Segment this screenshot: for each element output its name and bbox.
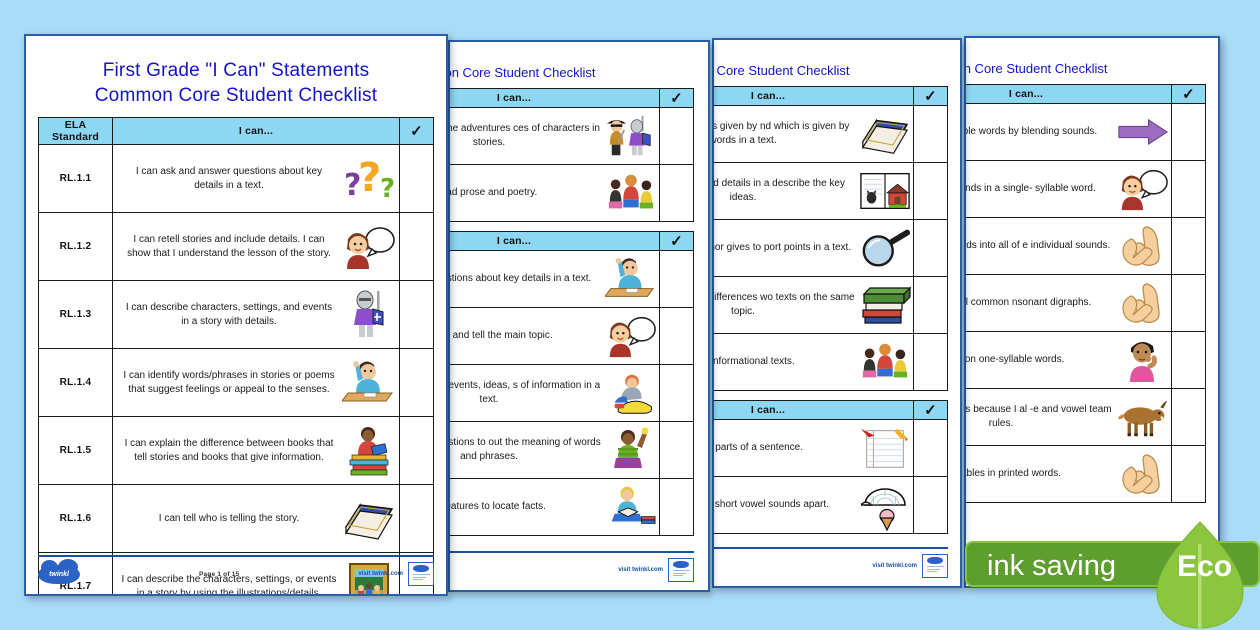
- statement-text: n similarities and differences wo texts …: [712, 291, 855, 319]
- statement-text: xt features to locate facts.: [448, 500, 601, 514]
- table-row: e single-syllable words by blending soun…: [964, 104, 1206, 161]
- screenshot-stage: First Grade "I Can" Statements Common Co…: [0, 0, 1260, 630]
- statement-text: e and contrast the adventures ces of cha…: [448, 122, 601, 150]
- table-header-row: I can...✓: [448, 89, 694, 108]
- statement-text: I can identify words/phrases in stories …: [117, 369, 337, 397]
- cell-checkbox[interactable]: [400, 145, 434, 213]
- cell-checkbox[interactable]: [914, 220, 948, 277]
- table-row: n text and tell the main topic.: [448, 308, 694, 365]
- table-row: ear and spell common nsonant digraphs.: [964, 275, 1206, 332]
- svg-text:?: ?: [380, 174, 395, 203]
- blue-book-icon: [341, 492, 397, 546]
- page-footer: Page 2 of 15 visit twinkl.com: [448, 551, 694, 582]
- cell-i-can-statement: I can identify words/phrases in stories …: [113, 349, 400, 417]
- statement-text: ear and spell common nsonant digraphs.: [964, 296, 1113, 310]
- pirate-and-knight-icon: [605, 113, 657, 159]
- cell-checkbox[interactable]: [1172, 218, 1206, 275]
- stack-of-books-icon: [859, 282, 911, 328]
- cell-checkbox[interactable]: [914, 420, 948, 477]
- cell-checkbox[interactable]: [914, 277, 948, 334]
- twinkl-badge-icon: [668, 558, 694, 582]
- table-header-row: I can...✓: [964, 85, 1206, 104]
- column-header-i-can: I can...: [448, 232, 660, 251]
- table-row: the long and short vowel sounds apart.: [712, 477, 948, 534]
- eco-label: ink saving: [987, 552, 1116, 581]
- column-header-i-can: I can...: [712, 87, 914, 106]
- blue-book-icon: [859, 111, 911, 157]
- page-title-line-2: Common Core Student Checklist: [38, 83, 434, 108]
- cell-i-can-statement: I can describe characters, settings, and…: [113, 281, 400, 349]
- twinkl-badge-icon: [408, 562, 434, 586]
- page-title: ts Common Core Student Checklist: [712, 50, 948, 86]
- table-header-row: I can...✓: [448, 232, 694, 251]
- table-row: ead prose and poetry.: [448, 165, 694, 222]
- table-row: ce all the sounds in a single- syllable …: [964, 161, 1206, 218]
- table-row: ong vowel sounds because I al -e and vow…: [964, 389, 1206, 446]
- statement-text: ead prose and poetry.: [448, 186, 601, 200]
- cell-checkbox[interactable]: [660, 108, 694, 165]
- table-row: and answer questions to out the meaning …: [448, 422, 694, 479]
- checklist-table: I can...✓ize the parts of a sentence. th…: [712, 400, 948, 534]
- ink-saving-eco-badge: ink saving Eco: [965, 533, 1260, 593]
- child-speech-bubble-icon: [605, 313, 657, 359]
- twinkl-logo-text: twinkl: [49, 571, 69, 578]
- statement-text: e illustrations and details in a describ…: [712, 177, 855, 205]
- cell-i-can-statement: d answer questions about key details in …: [448, 251, 660, 308]
- cell-checkbox[interactable]: [400, 485, 434, 553]
- lined-paper-pencil-icon: [859, 425, 911, 471]
- statement-text: I can ask and answer questions about key…: [117, 165, 337, 193]
- page-title: First Grade "I Can" Statements Common Co…: [38, 46, 434, 117]
- worksheet-page-4[interactable]: ts Common Core Student Checklist I can..…: [964, 36, 1220, 588]
- checklist-table: I can...✓d answer questions about key de…: [448, 231, 694, 536]
- table-header-row: I can...✓: [712, 87, 948, 106]
- cell-i-can-statement: t syllables in printed words.: [964, 446, 1172, 503]
- footer-website-link[interactable]: visit twinkl.com: [872, 563, 917, 569]
- page-title-line-1: First Grade "I Can" Statements: [103, 60, 370, 81]
- statement-text: ngle-syllable words into all of e indivi…: [964, 239, 1113, 253]
- cell-i-can-statement: ead informational texts.: [712, 334, 914, 391]
- statement-text: ead informational texts.: [712, 355, 855, 369]
- table-row: ngle-syllable words into all of e indivi…: [964, 218, 1206, 275]
- twinkl-badge-icon: [922, 554, 948, 578]
- column-header-i-can: I can...: [113, 118, 400, 145]
- cell-checkbox[interactable]: [914, 477, 948, 534]
- boy-reading-icon: [605, 484, 657, 530]
- cell-checkbox[interactable]: [1172, 446, 1206, 503]
- table-row: RL.1.5I can explain the difference betwe…: [39, 417, 434, 485]
- cell-i-can-statement: e illustrations and details in a describ…: [712, 163, 914, 220]
- children-reading-group-icon: [859, 339, 911, 385]
- statement-text: I can explain the difference between boo…: [117, 437, 337, 465]
- statement-text: I can tell who is telling the story.: [117, 512, 337, 526]
- clapping-hands-icon: [1117, 451, 1169, 497]
- magnifying-glass-icon: [859, 225, 911, 271]
- eco-word: Eco: [1177, 552, 1232, 582]
- cell-i-can-statement: I can tell who is telling the story.: [113, 485, 400, 553]
- cell-i-can-statement: ize the parts of a sentence.: [712, 420, 914, 477]
- cell-standard: RL.1.6: [39, 485, 113, 553]
- cell-checkbox[interactable]: [400, 213, 434, 281]
- goat-icon: [1117, 394, 1169, 440]
- cell-i-can-statement: ce all the sounds in a single- syllable …: [964, 161, 1172, 218]
- table-row: e and contrast the adventures ces of cha…: [448, 108, 694, 165]
- table-row: n similarities and differences wo texts …: [712, 277, 948, 334]
- table-row: RL.1.3I can describe characters, setting…: [39, 281, 434, 349]
- cell-checkbox[interactable]: [1172, 275, 1206, 332]
- checklist-table: ELA Standard I can... ✓ RL.1.1I can ask …: [38, 117, 434, 596]
- table-row: xt features to locate facts.: [448, 479, 694, 536]
- worksheet-page-3[interactable]: ts Common Core Student Checklist I can..…: [712, 38, 962, 588]
- page-footer: twinkl Page 1 of 15 visit twinkl.com: [38, 555, 434, 586]
- clapping-hands-icon: [1117, 280, 1169, 326]
- child-on-books-icon: [341, 424, 397, 478]
- cell-checkbox[interactable]: [400, 417, 434, 485]
- worksheet-page-2[interactable]: ts Common Core Student Checklist I can..…: [448, 40, 710, 592]
- cell-i-can-statement: ong vowel sounds because I al -e and vow…: [964, 389, 1172, 446]
- table-row: ead informational texts.: [712, 334, 948, 391]
- table-row: d answer questions about key details in …: [448, 251, 694, 308]
- cell-i-can-statement: I can explain the difference between boo…: [113, 417, 400, 485]
- cell-checkbox[interactable]: [400, 281, 434, 349]
- child-writing-desk-icon: [341, 356, 397, 410]
- cell-i-can-statement: n text and tell the main topic.: [448, 308, 660, 365]
- column-header-i-can: I can...: [964, 85, 1172, 104]
- cell-checkbox[interactable]: [1172, 104, 1206, 161]
- purple-arrow-icon: [1117, 109, 1169, 155]
- child-speech-bubble-icon: [1117, 166, 1169, 212]
- column-header-standard: ELA Standard: [39, 118, 113, 145]
- column-header-check: ✓: [914, 401, 948, 420]
- column-header-check: ✓: [660, 232, 694, 251]
- cell-i-can-statement: e and contrast the adventures ces of cha…: [448, 108, 660, 165]
- cell-checkbox[interactable]: [660, 365, 694, 422]
- twinkl-logo-icon: twinkl: [38, 565, 80, 584]
- cell-i-can-statement: ngle-syllable words into all of e indivi…: [964, 218, 1172, 275]
- cell-standard: RL.1.5: [39, 417, 113, 485]
- statement-text: the long and short vowel sounds apart.: [712, 498, 855, 512]
- table-row: RL.1.2I can retell stories and include d…: [39, 213, 434, 281]
- cell-i-can-statement: hich information is given by nd which is…: [712, 106, 914, 163]
- column-header-check: ✓: [400, 118, 434, 145]
- table-row: e illustrations and details in a describ…: [712, 163, 948, 220]
- child-writing-desk-icon: [605, 256, 657, 302]
- footer-website-link[interactable]: visit twinkl.com: [618, 567, 663, 573]
- cell-i-can-statement: I can ask and answer questions about key…: [113, 145, 400, 213]
- statement-text: and answer questions to out the meaning …: [448, 436, 601, 464]
- table-row: RL.1.4I can identify words/phrases in st…: [39, 349, 434, 417]
- table-header-row: ELA Standard I can... ✓: [39, 118, 434, 145]
- cell-checkbox[interactable]: [400, 349, 434, 417]
- table-row: hich information is given by nd which is…: [712, 106, 948, 163]
- column-header-check: ✓: [660, 89, 694, 108]
- statement-text: ce all the sounds in a single- syllable …: [964, 182, 1113, 196]
- cell-i-can-statement: two individuals, events, ideas, s of inf…: [448, 365, 660, 422]
- statement-text: ize the parts of a sentence.: [712, 441, 855, 455]
- page-title: ts Common Core Student Checklist: [964, 48, 1206, 84]
- statement-text: common one-syllable words.: [964, 353, 1113, 367]
- table-row: e reasons an author gives to port points…: [712, 220, 948, 277]
- statement-text: two individuals, events, ideas, s of inf…: [448, 379, 601, 407]
- checklist-table: I can...✓e and contrast the adventures c…: [448, 88, 694, 222]
- cell-i-can-statement: e single-syllable words by blending soun…: [964, 104, 1172, 161]
- cell-standard: RL.1.4: [39, 349, 113, 417]
- cell-checkbox[interactable]: [660, 308, 694, 365]
- table-row: t syllables in printed words.: [964, 446, 1206, 503]
- table-row: ize the parts of a sentence.: [712, 420, 948, 477]
- child-beanbag-icon: [605, 370, 657, 416]
- cell-i-can-statement: n similarities and differences wo texts …: [712, 277, 914, 334]
- cell-i-can-statement: xt features to locate facts.: [448, 479, 660, 536]
- cell-i-can-statement: e reasons an author gives to port points…: [712, 220, 914, 277]
- clapping-hands-icon: [1117, 223, 1169, 269]
- cell-checkbox[interactable]: [660, 165, 694, 222]
- table-row: two individuals, events, ideas, s of inf…: [448, 365, 694, 422]
- thinking-child-icon: [1117, 337, 1169, 383]
- table-row: RL.1.6I can tell who is telling the stor…: [39, 485, 434, 553]
- statement-text: hich information is given by nd which is…: [712, 120, 855, 148]
- knight-icon: [341, 288, 397, 342]
- cell-i-can-statement: common one-syllable words.: [964, 332, 1172, 389]
- statement-text: ong vowel sounds because I al -e and vow…: [964, 403, 1113, 431]
- column-header-i-can: I can...: [712, 401, 914, 420]
- cell-checkbox[interactable]: [660, 251, 694, 308]
- cell-checkbox[interactable]: [914, 106, 948, 163]
- statement-text: e reasons an author gives to port points…: [712, 241, 855, 255]
- children-reading-group-icon: [605, 170, 657, 216]
- cell-checkbox[interactable]: [914, 334, 948, 391]
- cell-checkbox[interactable]: [660, 422, 694, 479]
- checklist-table: I can...✓hich information is given by nd…: [712, 86, 948, 391]
- statement-text: I can retell stories and include details…: [117, 233, 337, 261]
- cell-i-can-statement: the long and short vowel sounds apart.: [712, 477, 914, 534]
- column-header-check: ✓: [1172, 85, 1206, 104]
- cell-i-can-statement: I can retell stories and include details…: [113, 213, 400, 281]
- igloo-ice-cream-icon: [859, 482, 911, 528]
- cell-checkbox[interactable]: [1172, 389, 1206, 446]
- statement-text: t syllables in printed words.: [964, 467, 1113, 481]
- table-row: RL.1.1I can ask and answer questions abo…: [39, 145, 434, 213]
- svg-text:?: ?: [358, 155, 381, 201]
- column-header-i-can: I can...: [448, 89, 660, 108]
- cell-i-can-statement: and answer questions to out the meaning …: [448, 422, 660, 479]
- child-speech-bubble-icon: [341, 220, 397, 274]
- column-header-check: ✓: [914, 87, 948, 106]
- statement-text: d answer questions about key details in …: [448, 272, 601, 286]
- footer-website-link[interactable]: visit twinkl.com: [358, 571, 403, 577]
- cell-checkbox[interactable]: [1172, 332, 1206, 389]
- footer-page-number: Page 1 of 15: [199, 571, 239, 578]
- cell-checkbox[interactable]: [914, 163, 948, 220]
- cell-i-can-statement: ear and spell common nsonant digraphs.: [964, 275, 1172, 332]
- open-book-icon: [859, 168, 911, 214]
- worksheet-page-1[interactable]: First Grade "I Can" Statements Common Co…: [24, 34, 448, 596]
- child-hand-up-icon: [605, 427, 657, 473]
- page-title: ts Common Core Student Checklist: [448, 52, 694, 88]
- cell-i-can-statement: ead prose and poetry.: [448, 165, 660, 222]
- statement-text: n text and tell the main topic.: [448, 329, 601, 343]
- question-marks-icon: ? ? ?: [341, 152, 397, 206]
- statement-text: e single-syllable words by blending soun…: [964, 125, 1113, 139]
- cell-standard: RL.1.3: [39, 281, 113, 349]
- page-footer: Page 3 of 15 visit twinkl.com: [712, 547, 948, 578]
- cell-standard: RL.1.1: [39, 145, 113, 213]
- table-header-row: I can...✓: [712, 401, 948, 420]
- statement-text: I can describe characters, settings, and…: [117, 301, 337, 329]
- table-row: common one-syllable words.: [964, 332, 1206, 389]
- cell-standard: RL.1.2: [39, 213, 113, 281]
- checklist-table: I can...✓e single-syllable words by blen…: [964, 84, 1206, 503]
- cell-checkbox[interactable]: [1172, 161, 1206, 218]
- cell-checkbox[interactable]: [660, 479, 694, 536]
